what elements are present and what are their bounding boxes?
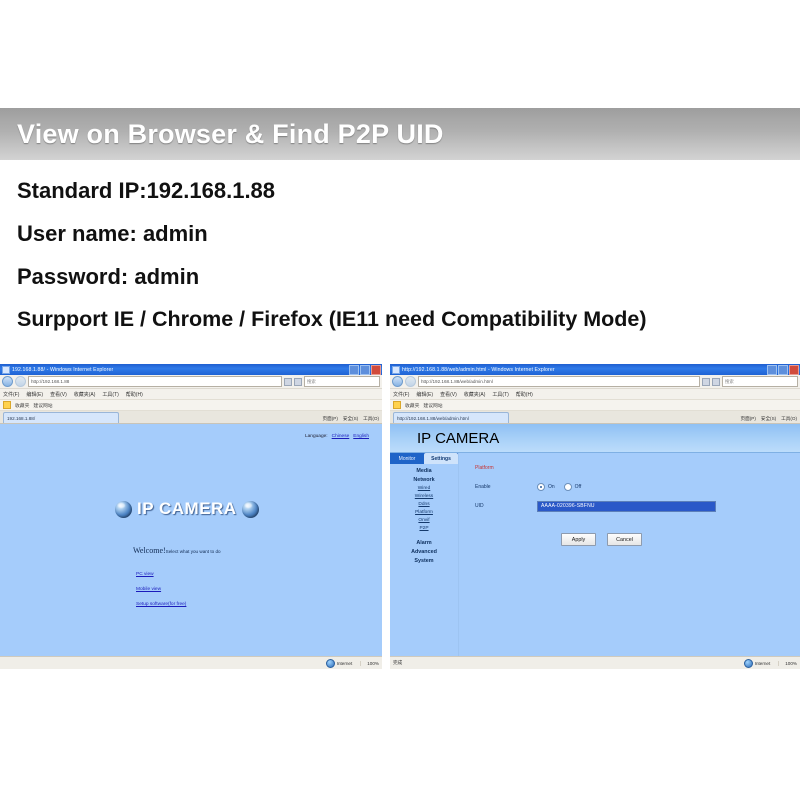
command-bar-right: 页面(P) 安全(S) 工具(O) (741, 416, 797, 422)
menu-item-file-left[interactable]: 文件(F) (3, 391, 19, 398)
search-input-right[interactable]: 搜索 (722, 376, 798, 387)
menu-item-view-left[interactable]: 查看(V) (50, 391, 67, 398)
welcome-subtext: Select what you want to do (166, 549, 221, 554)
settings-body: Monitor Settings Media Network Wired Wir… (390, 453, 800, 656)
ip-camera-logo-left: IP CAMERA (115, 499, 259, 519)
search-input-left[interactable]: 搜索 (304, 376, 380, 387)
back-button-right[interactable] (392, 376, 403, 387)
close-icon-right[interactable] (789, 365, 799, 375)
zoom-level-left: 100% (367, 661, 379, 666)
tab-bar-right: http://192.168.1.88/web/admin.html 页面(P)… (390, 411, 800, 424)
favorites-label-right[interactable]: 收藏夹 (405, 402, 419, 409)
slide-page: View on Browser & Find P2P UID Standard … (0, 0, 800, 800)
minimize-icon[interactable] (349, 365, 359, 375)
favorites-bar-left: 收藏夹 建议网站 (0, 400, 382, 411)
sidebar-item-media[interactable]: Media (416, 468, 431, 474)
uid-input[interactable]: AAAA-020396-SBFNU (537, 501, 716, 512)
menu-bar-left: 文件(F) 编辑(E) 查看(V) 收藏夹(A) 工具(T) 帮助(H) (0, 389, 382, 400)
link-pc-view[interactable]: PC view (136, 572, 186, 577)
ip-camera-header: IP CAMERA (390, 424, 800, 453)
window-title-right: http://192.168.1.88/web/admin.html - Win… (402, 367, 555, 373)
menu-item-favorites-right[interactable]: 收藏夹(A) (464, 391, 486, 398)
form-row-uid: UID AAAA-020396-SBFNU (475, 501, 800, 511)
command-page-right[interactable]: 页面(P) (741, 416, 756, 422)
suggested-sites-right[interactable]: 建议网站 (423, 402, 442, 409)
url-input-left[interactable]: http://192.168.1.88 (28, 376, 282, 387)
language-link-chinese[interactable]: Chinese (332, 434, 350, 439)
sidebar-item-advanced[interactable]: Advanced (411, 549, 437, 555)
favorites-bar-right: 收藏夹 建议网站 (390, 400, 800, 411)
command-tools-right[interactable]: 工具(O) (781, 416, 797, 422)
uid-label: UID (475, 503, 537, 509)
address-bar-left: http://192.168.1.88 搜索 (0, 375, 382, 389)
spec-user-name: User name: admin (17, 223, 787, 245)
sidebar-item-wired[interactable]: Wired (418, 486, 431, 491)
link-setup-software[interactable]: Setup software(for free) (136, 602, 186, 607)
form-row-enable: Enable On Off (475, 482, 800, 492)
menu-item-help-left[interactable]: 帮助(H) (126, 391, 143, 398)
apply-button[interactable]: Apply (561, 533, 596, 546)
globe-icon-header-left (396, 430, 412, 446)
menu-item-view-right[interactable]: 查看(V) (440, 391, 457, 398)
maximize-icon-right[interactable] (778, 365, 788, 375)
sidebar-item-p2p[interactable]: P2P (419, 526, 428, 531)
command-page-left[interactable]: 页面(P) (323, 416, 338, 422)
globe-icon-header-right (504, 430, 520, 446)
forward-button-right[interactable] (405, 376, 416, 387)
radio-on-label: On (548, 484, 555, 490)
form-section-title-row: Platform (475, 463, 800, 473)
radio-off-indicator (564, 483, 572, 491)
status-text-right: 完成 (393, 660, 402, 666)
radio-enable-on[interactable]: On (537, 483, 555, 491)
menu-item-tools-right[interactable]: 工具(T) (492, 391, 508, 398)
close-icon[interactable] (371, 365, 381, 375)
status-bar-right: 完成 Internet 100% (390, 656, 800, 669)
maximize-icon[interactable] (360, 365, 370, 375)
stop-icon-left[interactable] (294, 378, 302, 386)
globe-icon-right (242, 501, 259, 518)
sidebar-item-wireless[interactable]: Wireless (415, 494, 433, 499)
radio-on-indicator (537, 483, 545, 491)
zone-label-right: Internet (755, 661, 771, 666)
window-controls-right[interactable] (767, 365, 799, 375)
address-bar-right: http://192.168.1.88/web/admin.html 搜索 (390, 375, 800, 389)
globe-icon-left (115, 501, 132, 518)
window-title-left: 192.168.1.88/ - Windows Internet Explore… (12, 367, 113, 373)
command-bar-left: 页面(P) 安全(S) 工具(O) (323, 416, 379, 422)
settings-sidebar: Monitor Settings Media Network Wired Wir… (390, 453, 459, 656)
sidebar-item-onvif[interactable]: Onvif (418, 518, 429, 523)
forward-button-left[interactable] (15, 376, 26, 387)
language-selector: Language: Chinese English (305, 434, 369, 439)
star-icon-right[interactable] (393, 401, 401, 409)
spec-standard-ip: Standard IP:192.168.1.88 (17, 180, 787, 202)
tab-settings[interactable]: Settings (424, 453, 458, 464)
spec-list: Standard IP:192.168.1.88 User name: admi… (17, 180, 787, 352)
zoom-control-right[interactable]: 100% (778, 661, 797, 666)
form-button-row: Apply Cancel (561, 533, 800, 546)
language-link-english[interactable]: English (353, 434, 369, 439)
stop-icon-right[interactable] (712, 378, 720, 386)
window-divider (382, 364, 390, 706)
internet-zone-icon-left (326, 659, 335, 668)
command-tools-left[interactable]: 工具(O) (363, 416, 379, 422)
spec-password: Password: admin (17, 266, 787, 288)
language-label: Language: (305, 434, 328, 439)
ie-logo-icon (2, 366, 10, 374)
browser-window-right: http://192.168.1.88/web/admin.html - Win… (390, 364, 800, 706)
title-bar-right: http://192.168.1.88/web/admin.html - Win… (390, 364, 800, 375)
menu-item-edit-left[interactable]: 编辑(E) (26, 391, 43, 398)
settings-form: Platform Enable On Off (459, 453, 800, 656)
security-zone-left[interactable]: Internet (326, 659, 353, 668)
security-zone-right[interactable]: Internet (744, 659, 771, 668)
sidebar-item-network[interactable]: Network (413, 477, 434, 483)
menu-item-favorites-left[interactable]: 收藏夹(A) (74, 391, 96, 398)
browser-window-left: 192.168.1.88/ - Windows Internet Explore… (0, 364, 382, 706)
radio-enable-off[interactable]: Off (564, 483, 582, 491)
spec-browser-support: Surpport IE / Chrome / Firefox (IE11 nee… (17, 309, 787, 331)
settings-nav-list: Media Network Wired Wireless Ddns Platfo… (390, 464, 458, 564)
ip-camera-logo-text-right: IP CAMERA (417, 430, 499, 447)
refresh-icon-left[interactable] (284, 378, 292, 386)
back-button-left[interactable] (2, 376, 13, 387)
link-mobile-view[interactable]: Mobile view (136, 587, 186, 592)
suggested-sites-left[interactable]: 建议网站 (33, 402, 52, 409)
enable-label: Enable (475, 484, 537, 490)
command-safety-left[interactable]: 安全(S) (343, 416, 358, 422)
star-icon-left[interactable] (3, 401, 11, 409)
tab-monitor[interactable]: Monitor (390, 453, 424, 464)
zoom-level-right: 100% (785, 661, 797, 666)
status-bar-left: Internet 100% (0, 656, 382, 669)
command-safety-right[interactable]: 安全(S) (761, 416, 776, 422)
sidebar-item-ddns[interactable]: Ddns (418, 502, 429, 507)
title-bar-left: 192.168.1.88/ - Windows Internet Explore… (0, 364, 382, 375)
menu-item-file-right[interactable]: 文件(F) (393, 391, 409, 398)
ip-camera-logo-text-left: IP CAMERA (137, 499, 237, 519)
page-canvas-left: Language: Chinese English IP CAMERA Welc… (0, 424, 382, 656)
welcome-heading: Welcome! (133, 546, 166, 555)
cancel-button[interactable]: Cancel (607, 533, 642, 546)
menu-item-help-right[interactable]: 帮助(H) (516, 391, 533, 398)
window-controls-left[interactable] (349, 365, 381, 375)
refresh-icon-right[interactable] (702, 378, 710, 386)
sidebar-item-platform[interactable]: Platform (415, 510, 433, 515)
ie-logo-icon-right (392, 366, 400, 374)
settings-tab-bar: Monitor Settings (390, 453, 458, 464)
internet-zone-icon-right (744, 659, 753, 668)
welcome-message: Welcome! Select what you want to do (133, 546, 221, 555)
zoom-control-left[interactable]: 100% (360, 661, 379, 666)
menu-item-tools-left[interactable]: 工具(T) (102, 391, 118, 398)
zone-label-left: Internet (337, 661, 353, 666)
section-banner: View on Browser & Find P2P UID (0, 108, 800, 160)
form-section-title: Platform (475, 465, 537, 471)
url-input-right[interactable]: http://192.168.1.88/web/admin.html (418, 376, 700, 387)
screenshot-strip: 192.168.1.88/ - Windows Internet Explore… (0, 364, 800, 706)
browser-tab-right[interactable]: http://192.168.1.88/web/admin.html (393, 412, 509, 423)
minimize-icon-right[interactable] (767, 365, 777, 375)
menu-item-edit-right[interactable]: 编辑(E) (416, 391, 433, 398)
page-title: View on Browser & Find P2P UID (17, 119, 444, 150)
browser-tab-left[interactable]: 192.168.1.88/ (3, 412, 119, 423)
radio-off-label: Off (575, 484, 582, 490)
view-links-list: PC view Mobile view Setup software(for f… (136, 572, 186, 607)
favorites-label-left[interactable]: 收藏夹 (15, 402, 29, 409)
sidebar-item-alarm[interactable]: Alarm (416, 540, 431, 546)
page-canvas-right: IP CAMERA Monitor Settings Media Network… (390, 424, 800, 656)
menu-bar-right: 文件(F) 编辑(E) 查看(V) 收藏夹(A) 工具(T) 帮助(H) (390, 389, 800, 400)
uid-value: AAAA-020396-SBFNU (541, 503, 595, 509)
tab-bar-left: 192.168.1.88/ 页面(P) 安全(S) 工具(O) (0, 411, 382, 424)
sidebar-item-system[interactable]: System (414, 558, 433, 564)
